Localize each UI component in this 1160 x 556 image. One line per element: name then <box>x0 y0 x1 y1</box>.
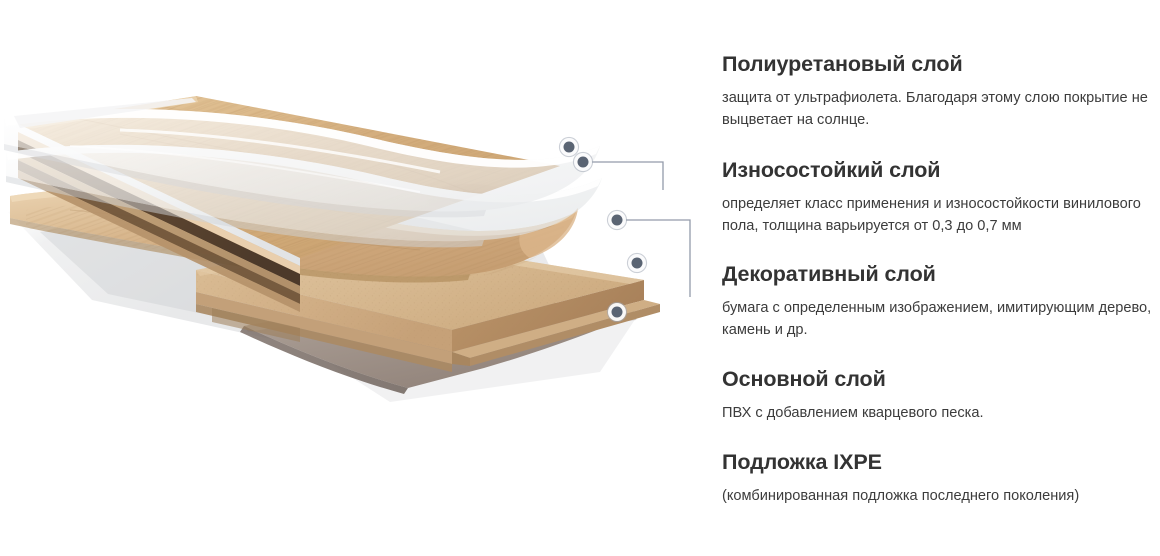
layer-body-decor-layer: бумага с определенным изображением, имит… <box>722 298 1152 341</box>
callout-dot-decor-layer[interactable] <box>612 215 623 226</box>
layer-section-wear-layer: Износостойкий слой определяет класс прим… <box>722 158 1152 237</box>
layer-body-core-layer: ПВХ с добавлением кварцевого песка. <box>722 403 1152 425</box>
callout-dot-polyurethane[interactable] <box>564 142 575 153</box>
callout-dot-ixpe-underlay[interactable] <box>612 307 623 318</box>
layer-heading-polyurethane: Полиуретановый слой <box>722 52 1152 77</box>
infographic-canvas: Полиуретановый слой защита от ультрафиол… <box>0 0 1160 551</box>
layer-body-ixpe-underlay: (комбинированная подложка последнего пок… <box>722 486 1152 508</box>
layer-section-decor-layer: Декоративный слой бумага с определенным … <box>722 262 1152 341</box>
layer-heading-core-layer: Основной слой <box>722 367 1152 392</box>
layer-body-polyurethane: защита от ультрафиолета. Благодаря этому… <box>722 88 1152 131</box>
vinyl-plank-illustration <box>0 0 700 551</box>
layer-section-polyurethane: Полиуретановый слой защита от ультрафиол… <box>722 52 1152 131</box>
callout-dot-core-layer[interactable] <box>632 258 643 269</box>
layer-heading-wear-layer: Износостойкий слой <box>722 158 1152 183</box>
layer-heading-ixpe-underlay: Подложка IXPE <box>722 450 1152 475</box>
callout-dot-wear-layer[interactable] <box>578 157 589 168</box>
layer-heading-decor-layer: Декоративный слой <box>722 262 1152 287</box>
layer-section-ixpe-underlay: Подложка IXPE (комбинированная подложка … <box>722 450 1152 508</box>
layer-descriptions: Полиуретановый слой защита от ультрафиол… <box>722 0 1160 551</box>
layer-section-core-layer: Основной слой ПВХ с добавлением кварцево… <box>722 367 1152 425</box>
layer-body-wear-layer: определяет класс применения и износостой… <box>722 194 1152 237</box>
